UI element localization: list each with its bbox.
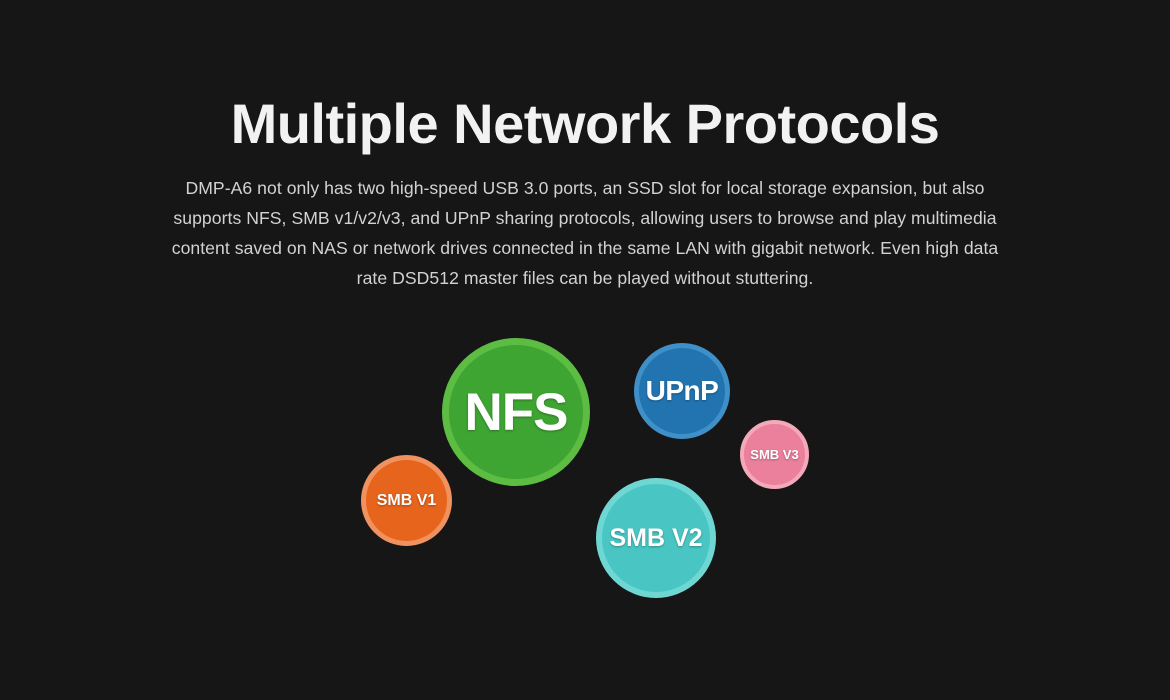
protocol-bubble-label: SMB V1 xyxy=(377,492,437,510)
protocol-bubble-label: SMB V3 xyxy=(750,447,798,462)
promo-page: Multiple Network Protocols DMP-A6 not on… xyxy=(0,0,1170,700)
protocol-bubble-label: SMB V2 xyxy=(609,524,702,553)
protocol-bubble-upnp: UPnP xyxy=(634,343,730,439)
protocol-bubble-nfs: NFS xyxy=(442,338,590,486)
protocol-bubble-smb-v3: SMB V3 xyxy=(740,420,809,489)
protocol-bubble-label: UPnP xyxy=(646,375,719,407)
protocol-bubble-cloud: NFS UPnP SMB V1 SMB V2 SMB V3 xyxy=(0,0,1170,700)
protocol-bubble-label: NFS xyxy=(465,382,568,443)
protocol-bubble-smb-v1: SMB V1 xyxy=(361,455,452,546)
protocol-bubble-smb-v2: SMB V2 xyxy=(596,478,716,598)
